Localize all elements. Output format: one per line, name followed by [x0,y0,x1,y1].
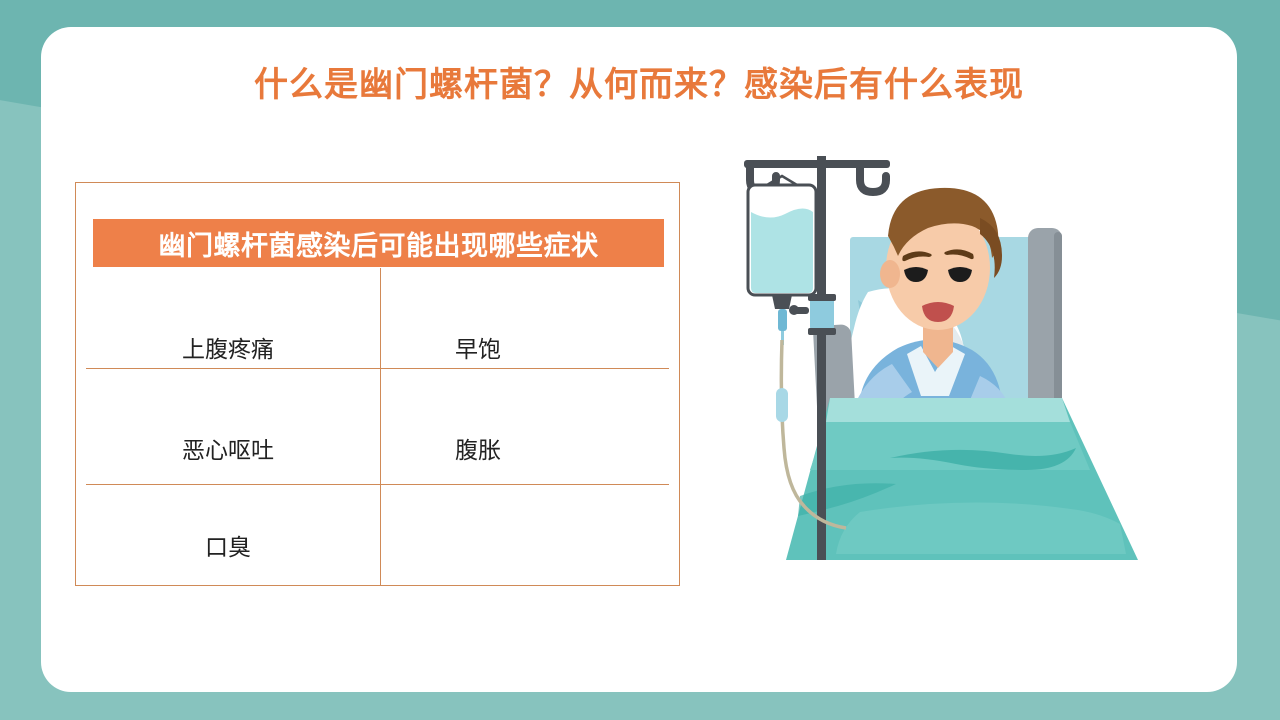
bed-blanket-icon [786,398,1138,560]
table-cell-symptom: 早饱 [380,330,681,364]
symptoms-table-header: 幽门螺杆菌感染后可能出现哪些症状 [93,219,664,267]
table-cell-symptom: 恶心呕吐 [76,431,380,465]
iv-bag-icon [748,176,816,345]
table-cell-symptom: 腹胀 [380,431,681,465]
page-title: 什么是幽门螺杆菌？从何而来？感染后有什么表现 [41,57,1237,106]
table-row-divider-2 [86,484,669,485]
slide-canvas: 什么是幽门螺杆菌？从何而来？感染后有什么表现 幽门螺杆菌感染后可能出现哪些症状 … [0,0,1280,720]
table-column-divider [380,268,381,586]
symptoms-table: 幽门螺杆菌感染后可能出现哪些症状 上腹疼痛 早饱 恶心呕吐 腹胀 口臭 [75,182,680,586]
hospital-patient-illustration [740,140,1170,580]
table-cell-symptom: 口臭 [76,528,380,562]
table-row-divider-1 [86,368,669,369]
iv-pole-clamp-icon [789,294,836,335]
table-cell-symptom: 上腹疼痛 [76,330,380,364]
